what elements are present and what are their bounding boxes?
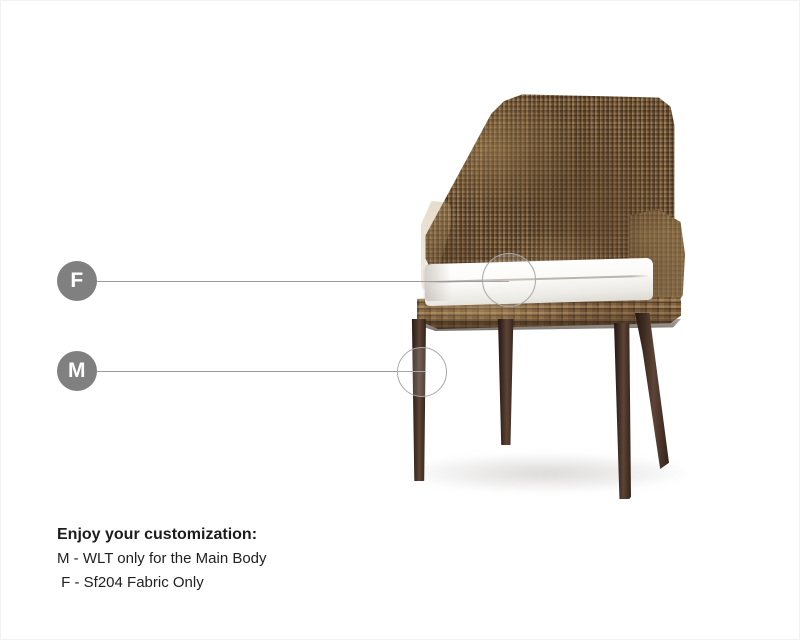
caption-heading: Enjoy your customization:: [57, 523, 577, 547]
rattan-armchair-illustration: [1, 1, 800, 513]
chair-leg-front-left: [411, 319, 426, 481]
callout-badge-m[interactable]: M: [57, 351, 97, 391]
chair-leg-back-left: [498, 319, 514, 445]
chair-leg-front-right: [614, 323, 631, 499]
callout-leader-line-m: [97, 371, 425, 372]
customization-caption: Enjoy your customization: M - WLT only f…: [57, 523, 577, 595]
callout-leader-line-f: [97, 281, 509, 282]
caption-line-main-body: M - WLT only for the Main Body: [57, 547, 577, 571]
product-image-stage: F M: [1, 1, 800, 513]
callout-target-ring-m: [397, 347, 447, 397]
caption-line-fabric: F - Sf204 Fabric Only: [57, 571, 577, 595]
product-customization-canvas: F M Enjoy your customization: M - WLT on…: [0, 0, 800, 640]
chair-leg-back-right: [635, 313, 669, 469]
callout-badge-f[interactable]: F: [57, 261, 97, 301]
callout-target-ring-f: [482, 253, 536, 307]
